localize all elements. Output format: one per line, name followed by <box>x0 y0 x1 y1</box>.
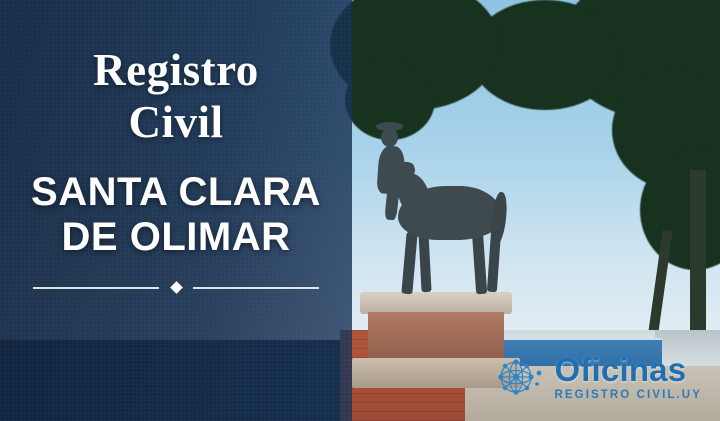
banner-image: Registro Civil SANTA CLARA DE OLIMAR <box>0 0 720 421</box>
diamond-divider-icon <box>33 282 319 294</box>
page-title-line1: Registro <box>0 44 352 96</box>
title-block: Registro Civil SANTA CLARA DE OLIMAR <box>0 0 352 294</box>
divider-bar-right <box>193 287 319 289</box>
site-logo[interactable]: Oficinas REGISTRO CIVIL.UY <box>492 351 702 403</box>
location-name-line1: SANTA CLARA <box>0 170 352 215</box>
divider-diamond <box>170 281 183 294</box>
location-name-line2: DE OLIMAR <box>0 215 352 260</box>
tree-trunk <box>690 170 706 340</box>
logo-text: Oficinas REGISTRO CIVIL.UY <box>554 353 702 402</box>
divider-bar-left <box>33 287 159 289</box>
logo-tagline: REGISTRO CIVIL.UY <box>554 390 702 402</box>
logo-wordmark: Oficinas <box>554 353 702 386</box>
location-name: SANTA CLARA DE OLIMAR <box>0 170 352 260</box>
page-title-line2: Civil <box>0 96 352 148</box>
oficinas-network-globe-icon <box>492 351 544 403</box>
page-title: Registro Civil <box>0 44 352 148</box>
